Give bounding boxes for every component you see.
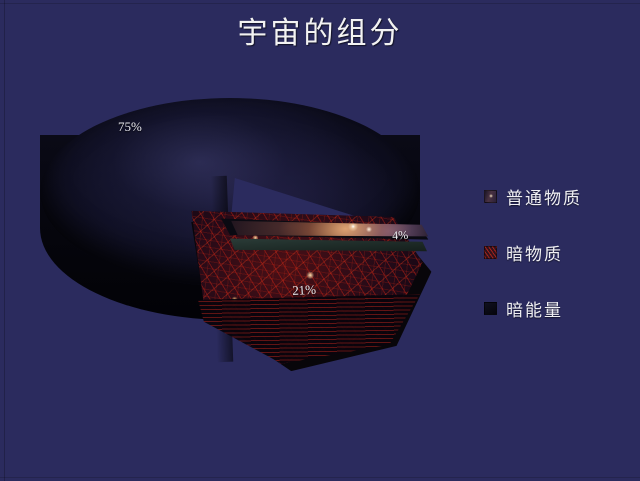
legend-label-dark-energy: 暗能量 <box>506 296 563 321</box>
pie-slice-ordinary-matter: 4% <box>220 197 431 274</box>
pie-label-dark-energy: 75% <box>118 119 142 135</box>
dark-energy-swatch-icon <box>484 302 497 315</box>
dark-matter-swatch-icon <box>484 246 497 259</box>
chart-legend: 普通物质 暗物质 暗能量 <box>484 168 634 336</box>
presentation-slide: 宇宙的组分 75% 21% 4% 普通物质 暗物质 <box>0 0 640 481</box>
legend-item-dark-energy[interactable]: 暗能量 <box>484 280 634 336</box>
legend-label-dark-matter: 暗物质 <box>506 240 563 265</box>
pie-label-ordinary-matter: 4% <box>392 228 409 244</box>
pie-chart: 75% 21% 4% <box>0 0 470 481</box>
legend-item-dark-matter[interactable]: 暗物质 <box>484 224 634 280</box>
pie-label-dark-matter: 21% <box>292 282 317 299</box>
ordinary-matter-swatch-icon <box>484 190 497 203</box>
legend-item-ordinary-matter[interactable]: 普通物质 <box>484 168 634 224</box>
legend-label-ordinary-matter: 普通物质 <box>506 184 582 209</box>
